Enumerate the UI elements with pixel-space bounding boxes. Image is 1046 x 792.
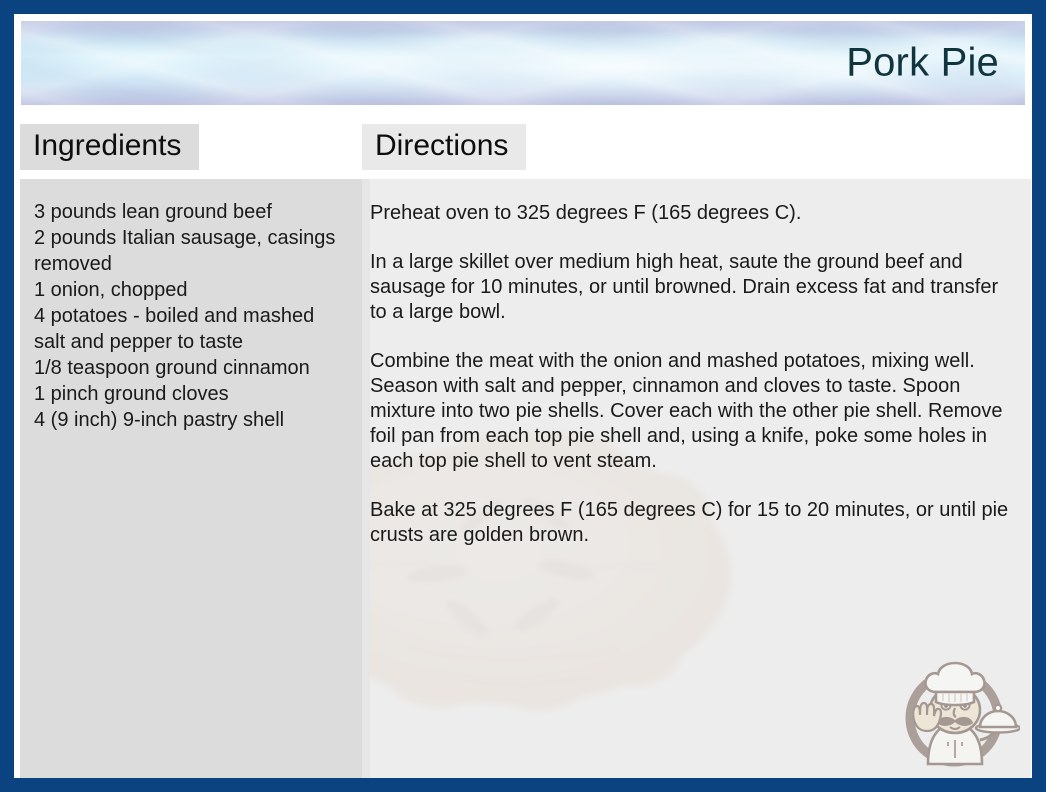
direction-step: Bake at 325 degrees F (165 degrees C) fo… xyxy=(370,498,1017,548)
list-item: 4 potatoes - boiled and mashed xyxy=(34,303,354,329)
list-item: salt and pepper to taste xyxy=(34,329,354,355)
ingredients-heading: Ingredients xyxy=(20,124,199,170)
ingredients-column: Ingredients 3 pounds lean ground beef 2 … xyxy=(20,124,362,170)
recipe-card: Pork Pie xyxy=(0,0,1046,792)
list-item: 3 pounds lean ground beef xyxy=(34,199,354,225)
list-item: 2 pounds Italian sausage, casings remove… xyxy=(34,225,354,277)
chef-with-cloche-logo xyxy=(892,648,1020,772)
recipe-page: Pork Pie xyxy=(14,14,1032,778)
direction-step: Preheat oven to 325 degrees F (165 degre… xyxy=(370,201,1017,226)
list-item: 4 (9 inch) 9-inch pastry shell xyxy=(34,407,354,433)
header-banner: Pork Pie xyxy=(21,21,1025,105)
directions-heading: Directions xyxy=(362,124,526,170)
direction-step: In a large skillet over medium high heat… xyxy=(370,250,1017,325)
list-item: 1/8 teaspoon ground cinnamon xyxy=(34,355,354,381)
page-title: Pork Pie xyxy=(846,41,999,86)
directions-column: Directions Preheat oven to 325 degrees F… xyxy=(362,124,1017,170)
direction-step: Combine the meat with the onion and mash… xyxy=(370,349,1017,474)
list-item: 1 onion, chopped xyxy=(34,277,354,303)
ingredients-panel: 3 pounds lean ground beef 2 pounds Itali… xyxy=(20,179,370,778)
list-item: 1 pinch ground cloves xyxy=(34,381,354,407)
